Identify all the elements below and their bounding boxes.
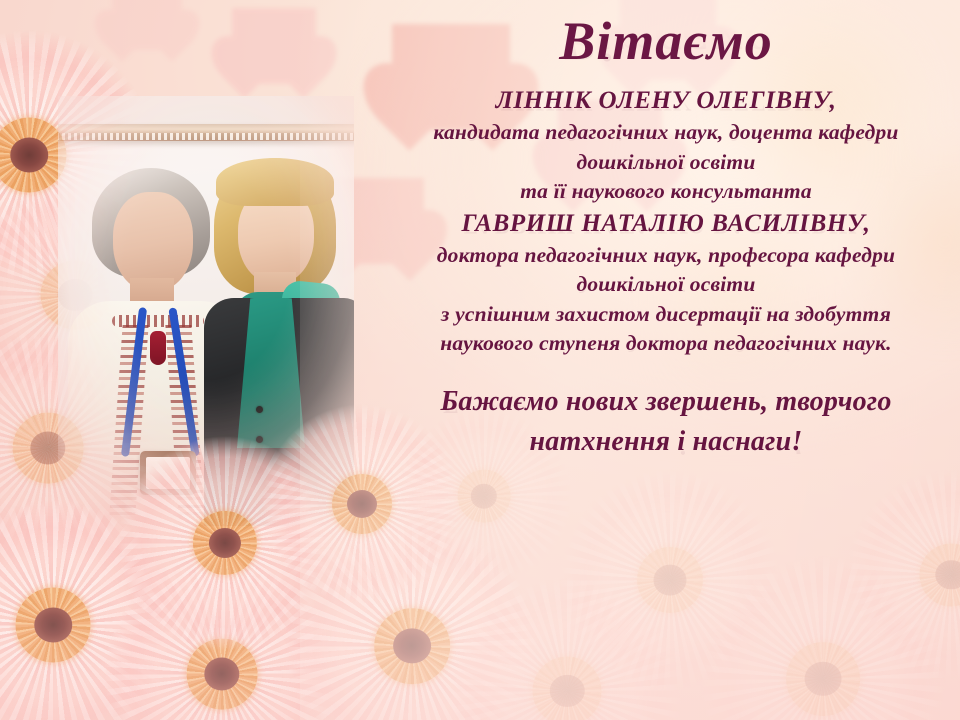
molding-bead-detail [58,133,354,140]
jacket-opening [234,298,308,448]
heart-decor-icon [112,0,182,50]
honoree-2-title-2: дошкільної освіти [372,272,960,297]
honoree-2-title-1: доктора педагогічних наук, професора каф… [372,243,960,268]
text-column: Вітаємо ЛІННІК ОЛЕНУ ОЛЕГІВНУ, кандидата… [372,0,960,720]
honoree-2-intro: та її наукового консультанта [372,179,960,204]
honoree-2-name: ГАВРИШ НАТАЛІЮ ВАСИЛІВНУ, [372,210,960,238]
heart-decor-icon [232,8,316,84]
jacket-button [256,406,263,413]
vyshyvanka-tassel [150,331,166,365]
occasion-line-2: наукового ступеня доктора педагогічних н… [372,331,960,356]
person-right-fringe [216,158,334,206]
honoree-1-title-1: кандидата педагогічних наук, доцента каф… [372,120,960,145]
occasion-line-1: з успішним захистом дисертації на здобут… [372,302,960,327]
honoree-1-name: ЛІННІК ОЛЕНУ ОЛЕГІВНУ, [372,87,960,115]
page-title: Вітаємо [372,14,960,69]
congratulation-slide: Вітаємо ЛІННІК ОЛЕНУ ОЛЕГІВНУ, кандидата… [0,0,960,720]
wish-line-1: Бажаємо нових звершень, творчого [372,386,960,418]
picture-frame-molding [58,124,354,141]
person-left-face [113,192,193,292]
honoree-1-title-2: дошкільної освіти [372,150,960,175]
wish-line-2: натхнення і наснаги! [372,426,960,458]
